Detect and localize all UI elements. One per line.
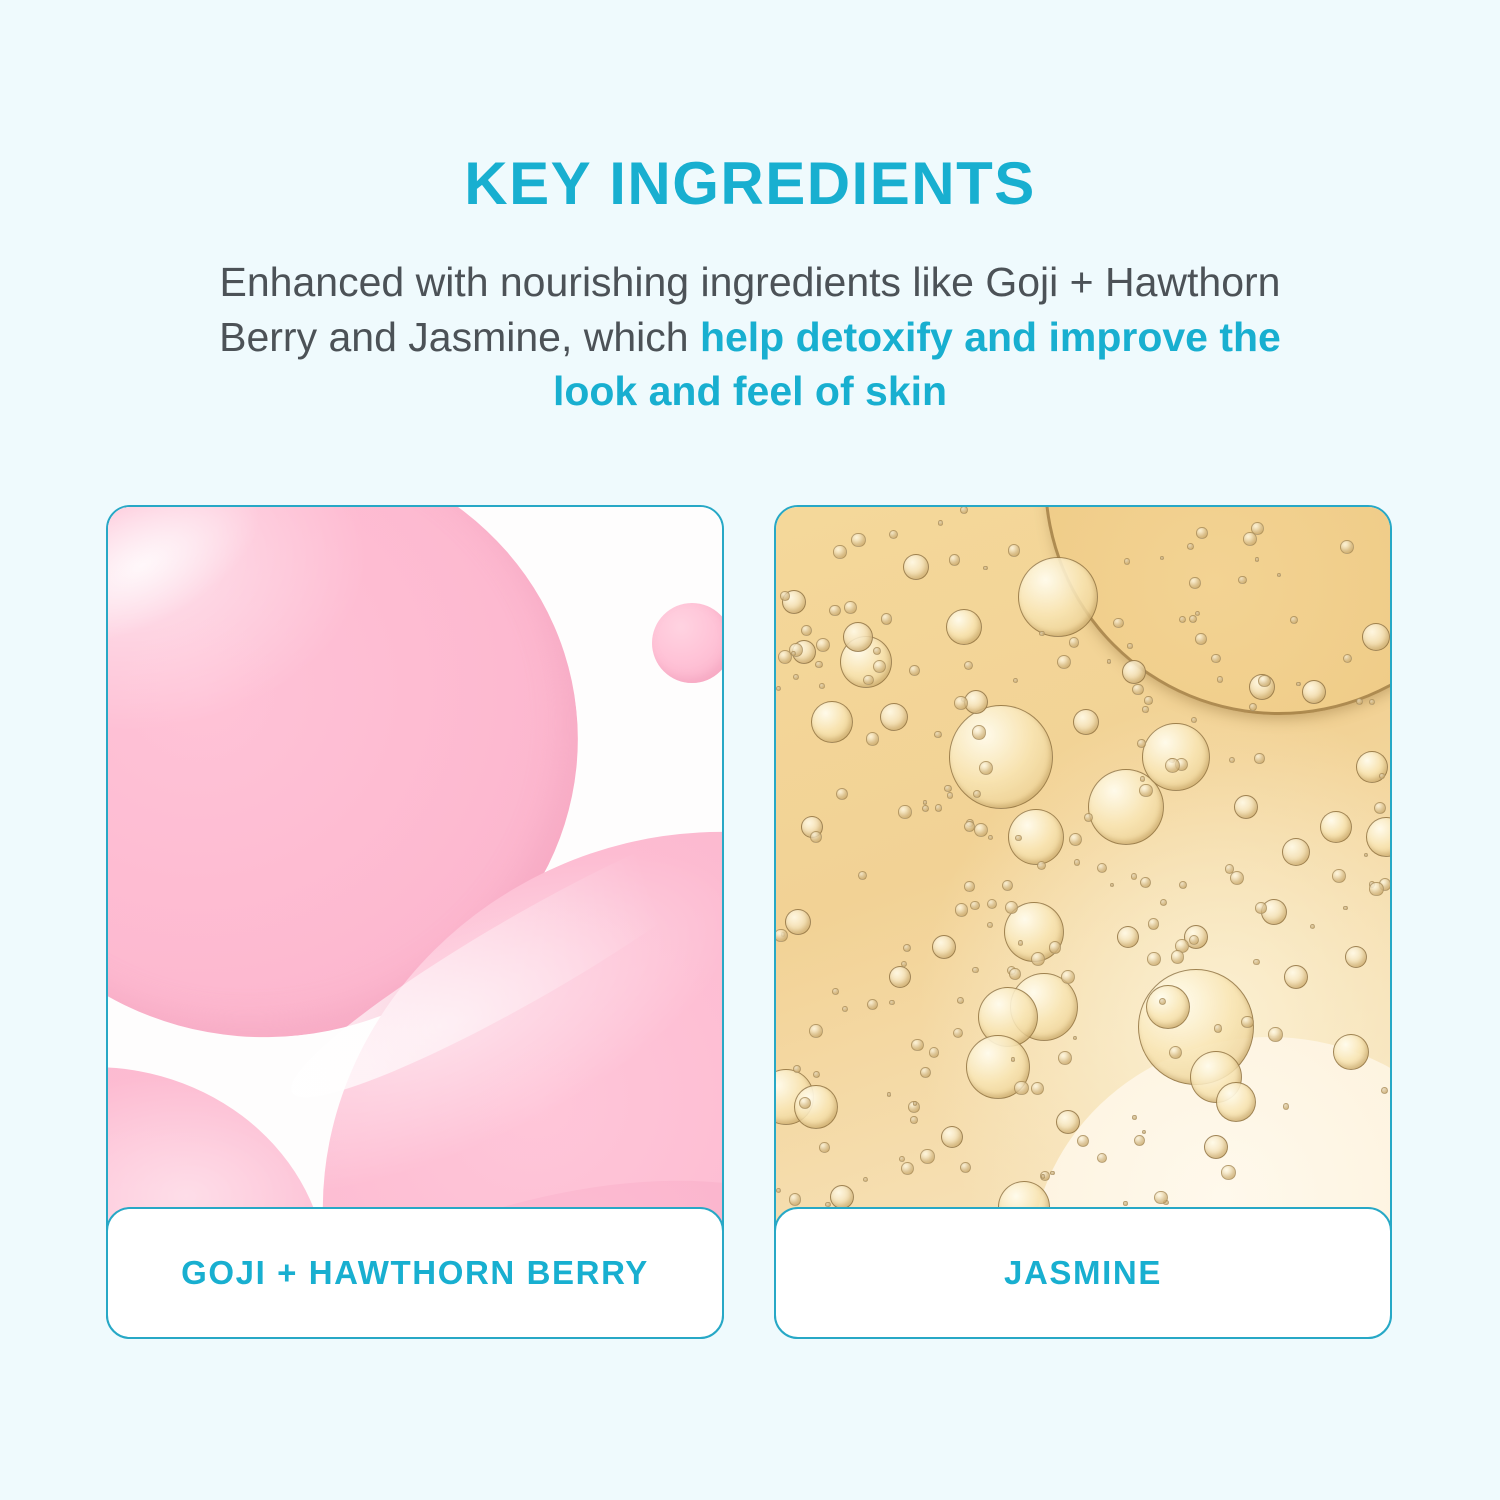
gold-microbubble [867, 999, 878, 1010]
gold-microbubble [1290, 616, 1298, 624]
gold-microbubble [1050, 1171, 1054, 1175]
gold-bubble [785, 909, 811, 935]
gold-microbubble [819, 1142, 830, 1153]
gold-microbubble [813, 1071, 820, 1078]
gold-microbubble [1369, 882, 1384, 897]
gold-bubble [1234, 795, 1258, 819]
gold-microbubble [1356, 698, 1363, 705]
gold-microbubble [1343, 906, 1347, 910]
gold-bubble [1333, 1034, 1369, 1070]
gold-microbubble [887, 1092, 892, 1097]
gold-microbubble [1160, 899, 1167, 906]
key-ingredients-page: KEY INGREDIENTS Enhanced with nourishing… [0, 0, 1500, 1500]
gold-microbubble [1107, 659, 1111, 663]
gold-microbubble [1254, 753, 1265, 764]
gold-microbubble [1148, 918, 1160, 930]
gold-microbubble [810, 831, 822, 843]
card-label-jasmine-text: JASMINE [1004, 1254, 1162, 1292]
gold-microbubble [1217, 676, 1223, 682]
gold-bubble [880, 703, 908, 731]
gold-microbubble [1110, 883, 1114, 887]
gold-microbubble [909, 665, 920, 676]
gold-microbubble [1015, 835, 1021, 841]
gold-microbubble [1069, 833, 1082, 846]
gold-microbubble [901, 961, 908, 968]
gold-microbubble [1147, 952, 1161, 966]
gold-microbubble [842, 1006, 848, 1012]
gold-microbubble [1140, 877, 1151, 888]
gold-microbubble [833, 545, 846, 558]
gold-microbubble [1241, 1016, 1253, 1028]
gold-microbubble [1238, 576, 1246, 584]
gold-microbubble [863, 675, 874, 686]
gold-bubble [1146, 985, 1190, 1029]
gold-microbubble [1061, 970, 1075, 984]
page-title: KEY INGREDIENTS [0, 152, 1500, 215]
gold-microbubble [863, 1177, 868, 1182]
gold-microbubble [1283, 1103, 1290, 1110]
gold-microbubble [957, 997, 964, 1004]
gold-bubble [1345, 946, 1367, 968]
gold-microbubble [1131, 873, 1138, 880]
gold-bubble [1142, 723, 1210, 791]
gold-bubble [1366, 817, 1390, 857]
gold-microbubble [944, 785, 951, 792]
gold-microbubble [1097, 863, 1107, 873]
gold-microbubble [1255, 902, 1267, 914]
gold-microbubble [858, 871, 867, 880]
gold-microbubble [1189, 577, 1201, 589]
gold-microbubble [1132, 1115, 1136, 1119]
gold-microbubble [1140, 776, 1145, 781]
gold-microbubble [979, 761, 993, 775]
gold-microbubble [1332, 869, 1346, 883]
gold-microbubble [776, 929, 788, 943]
gold-microbubble [1014, 1081, 1028, 1095]
gold-microbubble [923, 800, 927, 804]
gold-microbubble [960, 507, 968, 514]
gold-microbubble [988, 835, 993, 840]
gold-microbubble [1049, 941, 1062, 954]
gold-microbubble [1113, 618, 1123, 628]
gold-microbubble [881, 613, 893, 625]
gold-microbubble [829, 605, 841, 617]
gold-microbubble [1123, 1201, 1127, 1205]
gold-bubble [1216, 1082, 1256, 1122]
gold-microbubble [987, 922, 993, 928]
gold-bubble [1282, 838, 1310, 866]
gold-microbubble [1005, 901, 1018, 914]
gold-microbubble [889, 1000, 894, 1005]
gold-microbubble [899, 1156, 905, 1162]
gold-microbubble [964, 881, 975, 892]
gold-microbubble [1179, 616, 1186, 623]
gold-droplet-large-topright [1044, 507, 1390, 715]
page-subtitle: Enhanced with nourishing ingredients lik… [180, 255, 1320, 419]
gold-microbubble [1069, 637, 1080, 648]
gold-microbubble [1187, 543, 1194, 550]
gold-microbubble [1169, 1046, 1182, 1059]
gold-bubble [1302, 680, 1326, 704]
gold-microbubble [1258, 675, 1270, 687]
card-label-goji: GOJI + HAWTHORN BERRY [106, 1207, 724, 1339]
gold-microbubble [1142, 706, 1148, 712]
gold-microbubble [1084, 813, 1093, 822]
gold-bubble [843, 622, 873, 652]
gold-microbubble [1073, 1036, 1077, 1040]
gold-microbubble [1002, 880, 1013, 891]
gold-microbubble [949, 554, 960, 565]
gold-microbubble [954, 696, 968, 710]
gold-microbubble [1268, 1027, 1283, 1042]
gold-microbubble [955, 903, 969, 917]
gold-microbubble [1364, 853, 1368, 857]
gold-microbubble [972, 725, 987, 740]
gold-microbubble [974, 823, 988, 837]
gold-microbubble [1041, 1174, 1046, 1179]
gold-microbubble [836, 788, 848, 800]
gold-bubble [1284, 965, 1308, 989]
gold-microbubble [1191, 717, 1197, 723]
gold-microbubble [1374, 802, 1386, 814]
gold-bubble [1122, 660, 1146, 684]
gold-microbubble [1057, 655, 1071, 669]
gold-microbubble [935, 804, 942, 811]
gold-microbubble [934, 731, 941, 738]
gold-microbubble [819, 683, 825, 689]
gold-microbubble [1221, 1165, 1236, 1180]
gold-bubble [932, 935, 956, 959]
gold-microbubble [832, 988, 839, 995]
gold-microbubble [815, 661, 822, 668]
gold-microbubble [1074, 859, 1081, 866]
gold-microbubble [1225, 864, 1234, 873]
gold-microbubble [851, 533, 866, 548]
gold-microbubble [920, 1149, 934, 1163]
gold-bubble [1320, 811, 1352, 843]
gold-bubble [889, 966, 911, 988]
gold-microbubble [983, 566, 988, 571]
gold-microbubble [987, 899, 997, 909]
gold-microbubble [947, 792, 953, 798]
gold-microbubble [780, 591, 789, 600]
gold-microbubble [866, 732, 879, 745]
card-label-goji-text: GOJI + HAWTHORN BERRY [181, 1254, 649, 1292]
gold-bubble [1056, 1110, 1080, 1134]
gold-microbubble [793, 674, 799, 680]
gold-microbubble [801, 625, 812, 636]
gold-bubble [949, 705, 1053, 809]
gold-microbubble [1132, 684, 1143, 695]
gold-microbubble [903, 944, 911, 952]
gold-microbubble [1249, 703, 1257, 711]
gold-microbubble [964, 821, 975, 832]
gold-microbubble [1127, 643, 1132, 648]
gold-microbubble [1310, 924, 1315, 929]
gold-microbubble [964, 661, 973, 670]
gold-microbubble [1253, 959, 1260, 966]
gold-bubble [946, 609, 982, 645]
gold-microbubble [938, 520, 943, 525]
gold-microbubble [1058, 1051, 1072, 1065]
gold-microbubble [789, 1193, 801, 1205]
gold-microbubble [1171, 950, 1184, 963]
card-label-jasmine: JASMINE [774, 1207, 1392, 1339]
gold-microbubble [1039, 631, 1045, 637]
gold-microbubble [910, 1116, 917, 1123]
gold-microbubble [1381, 1087, 1388, 1094]
gold-microbubble [776, 1188, 781, 1193]
gold-microbubble [970, 901, 979, 910]
gold-microbubble [920, 1067, 931, 1078]
gold-bubble [1362, 623, 1390, 651]
gold-microbubble [809, 1024, 823, 1038]
gold-bubble [1204, 1135, 1228, 1159]
gold-microbubble [898, 805, 911, 818]
gold-microbubble [1018, 940, 1024, 946]
gold-microbubble [1031, 952, 1045, 966]
gold-microbubble [929, 1047, 939, 1057]
pink-blob-small-topright [652, 603, 722, 683]
gold-microbubble [776, 686, 781, 691]
gold-microbubble [972, 967, 979, 974]
gold-microbubble [901, 1162, 914, 1175]
gold-microbubble [1144, 696, 1152, 704]
gold-microbubble [913, 1101, 918, 1106]
gold-microbubble [1009, 968, 1021, 980]
gold-microbubble [1137, 739, 1146, 748]
gold-microbubble [1179, 881, 1187, 889]
gold-microbubble [889, 530, 898, 539]
gold-microbubble [1296, 682, 1300, 686]
gold-microbubble [844, 601, 857, 614]
gold-microbubble [1008, 544, 1021, 557]
gold-microbubble [1379, 773, 1385, 779]
gold-microbubble [1159, 998, 1166, 1005]
gold-microbubble [816, 638, 830, 652]
gold-bubble [1117, 926, 1139, 948]
gold-bubble [1073, 709, 1099, 735]
gold-microbubble [953, 1028, 963, 1038]
gold-microbubble [1013, 678, 1018, 683]
gold-microbubble [1229, 757, 1235, 763]
gold-microbubble [922, 805, 929, 812]
gold-bubble [830, 1185, 854, 1209]
gold-microbubble [1031, 1082, 1044, 1095]
gold-microbubble [911, 1039, 923, 1051]
gold-microbubble [1230, 871, 1244, 885]
gold-microbubble [1369, 699, 1375, 705]
gold-microbubble [1124, 558, 1131, 565]
gold-microbubble [1154, 1191, 1167, 1204]
gold-microbubble [1214, 1024, 1223, 1033]
gold-bubble [903, 554, 929, 580]
gold-microbubble [960, 1162, 971, 1173]
gold-microbubble [1196, 527, 1208, 539]
gold-bubble [811, 701, 853, 743]
gold-microbubble [1037, 861, 1046, 870]
gold-microbubble [1243, 532, 1257, 546]
gold-bubble [1018, 557, 1098, 637]
gold-bubble [941, 1126, 963, 1148]
